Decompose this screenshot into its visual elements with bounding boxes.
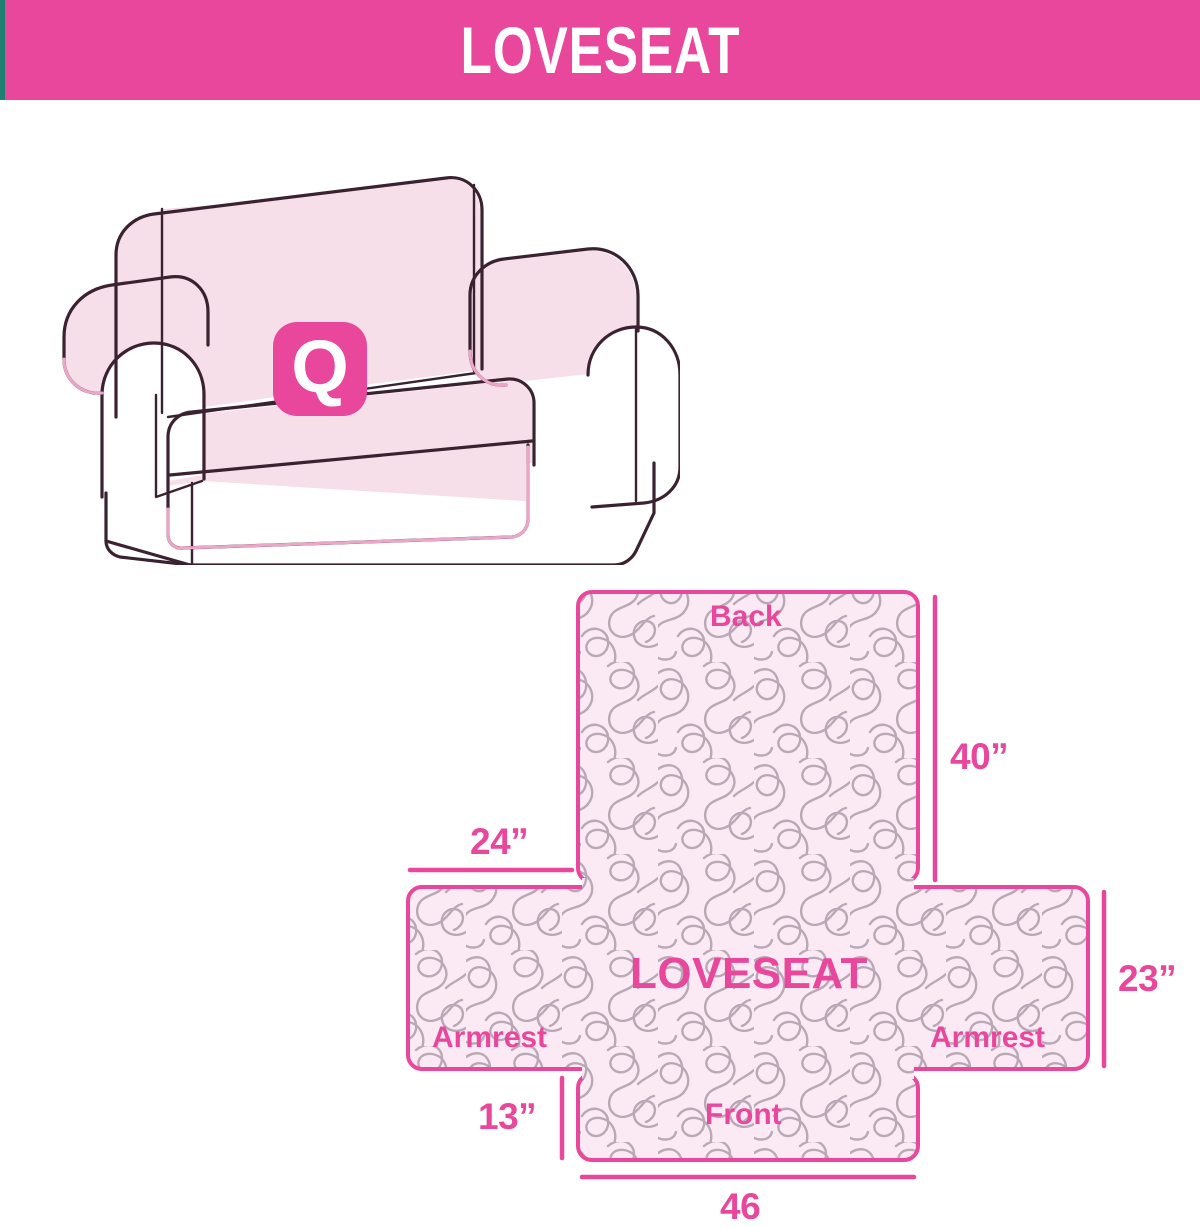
cover-flat-diagram: Back LOVESEAT Armrest Armrest Front 40” … <box>370 470 1200 1200</box>
diagram-center-label: LOVESEAT <box>630 952 868 996</box>
dimension-label-armrest-width: 24” <box>470 823 528 860</box>
dimension-label-body-height: 23” <box>1118 960 1176 997</box>
header-banner: LOVESEAT <box>0 0 1200 100</box>
panel-label-armrest-left: Armrest <box>432 1023 547 1053</box>
panel-back <box>578 592 918 882</box>
page-title: LOVESEAT <box>460 17 740 83</box>
dimension-label-front-height: 13” <box>478 1098 536 1135</box>
dimension-label-front-width: 46 <box>720 1188 760 1225</box>
panel-label-armrest-right: Armrest <box>930 1023 1045 1053</box>
brand-logo-badge: Q <box>273 322 367 416</box>
content-area: .sk { fill:none; stroke:#3b2230; stroke-… <box>0 100 1200 1200</box>
panel-label-front: Front <box>705 1100 782 1130</box>
header-accent-strip <box>0 0 5 100</box>
panel-label-back: Back <box>710 602 782 632</box>
dimension-label-back-height: 40” <box>950 738 1008 775</box>
logo-letter: Q <box>291 330 349 404</box>
